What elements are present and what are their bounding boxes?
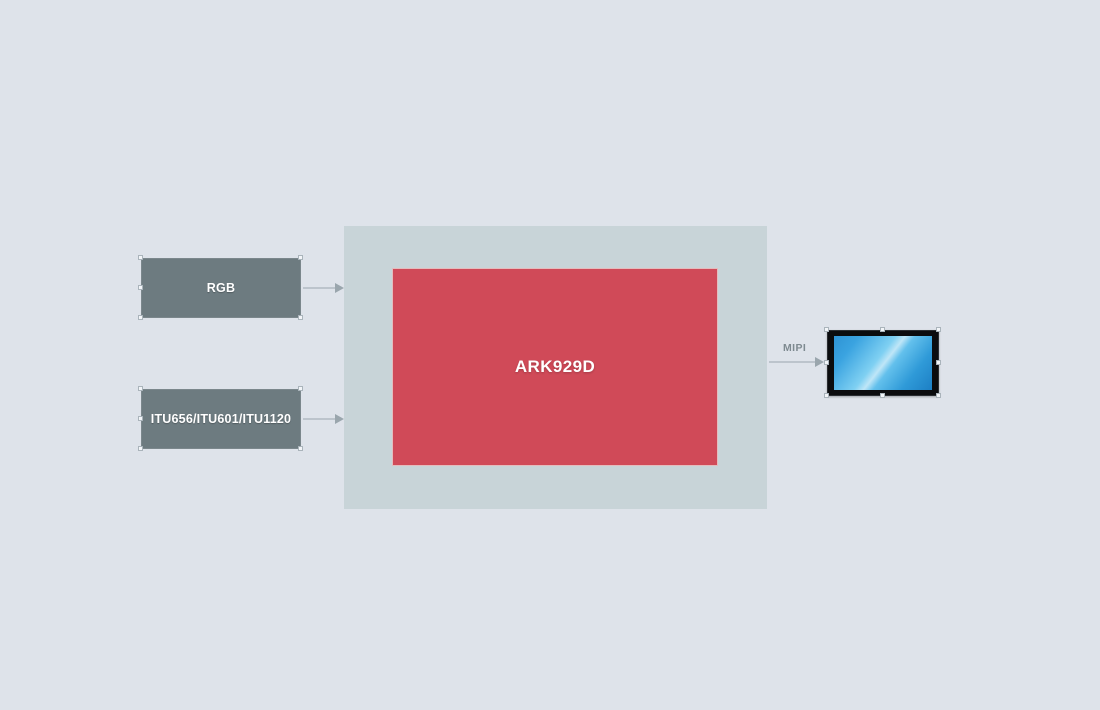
selection-handle[interactable]	[298, 386, 303, 391]
edge-itu-to-chip	[303, 413, 344, 425]
edge-chip-to-display	[769, 356, 824, 368]
selection-handle[interactable]	[138, 315, 143, 320]
selection-handle[interactable]	[824, 327, 829, 332]
edge-line	[769, 362, 816, 363]
arrowhead-icon	[815, 357, 824, 367]
edge-line	[303, 288, 336, 289]
selection-handle[interactable]	[298, 315, 303, 320]
selection-handle[interactable]	[138, 446, 143, 451]
selection-handle[interactable]	[936, 360, 941, 365]
chip-label: ARK929D	[515, 357, 595, 377]
edge-rgb-to-chip	[303, 282, 344, 294]
edge-label-mipi: MIPI	[783, 342, 806, 354]
selection-handle[interactable]	[138, 416, 143, 421]
selection-handle[interactable]	[298, 446, 303, 451]
arrowhead-icon	[335, 414, 344, 424]
arrowhead-icon	[335, 283, 344, 293]
selection-handle[interactable]	[936, 393, 941, 398]
source-box-itu-label: ITU656/ITU601/ITU1120	[151, 412, 291, 426]
chip-ark929d[interactable]: ARK929D	[392, 268, 718, 466]
selection-handle[interactable]	[298, 255, 303, 260]
selection-handle[interactable]	[880, 327, 885, 332]
source-box-rgb-label: RGB	[207, 281, 235, 295]
selection-handle[interactable]	[138, 285, 143, 290]
display-screen	[834, 336, 932, 390]
source-box-itu[interactable]: ITU656/ITU601/ITU1120	[141, 389, 301, 449]
source-box-rgb[interactable]: RGB	[141, 258, 301, 318]
display-monitor[interactable]	[827, 330, 939, 396]
edge-line	[303, 419, 336, 420]
diagram-canvas: RGB ITU656/ITU601/ITU1120 ARK929D MIPI	[0, 0, 1100, 710]
selection-handle[interactable]	[138, 255, 143, 260]
selection-handle[interactable]	[936, 327, 941, 332]
selection-handle[interactable]	[824, 393, 829, 398]
selection-handle[interactable]	[880, 393, 885, 398]
selection-handle[interactable]	[824, 360, 829, 365]
selection-handle[interactable]	[138, 386, 143, 391]
